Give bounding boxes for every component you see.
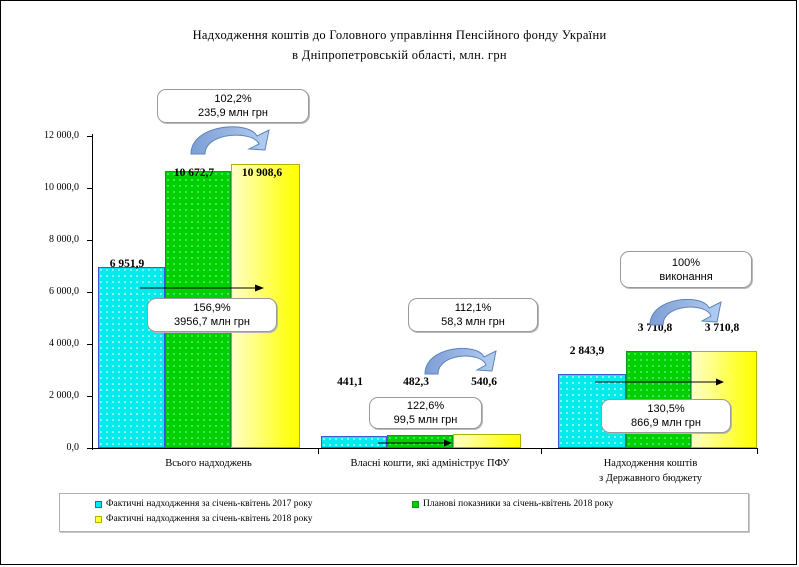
chart-title: Надходження коштів до Головного управлін… xyxy=(1,25,798,65)
straight-arrow-group2 xyxy=(378,438,453,448)
callout-group3-growth-line-1: 130,5% xyxy=(602,402,730,416)
legend-label-2: Планові показники за січень-квітень 2018… xyxy=(423,499,613,509)
callout-group3-growth-line-2: 866,9 млн грн xyxy=(602,416,730,430)
legend-label-3: Фактичні надходження за січень-квітень 2… xyxy=(106,514,313,524)
category-label-1-line-1: Всього надходжень xyxy=(101,456,316,471)
straight-arrow-group3 xyxy=(595,377,725,387)
y-tick-0 xyxy=(87,448,92,449)
bar-group1-series1[interactable] xyxy=(98,267,165,448)
category-label-3-line-2: з Державного бюджету xyxy=(543,471,758,486)
callout-group1-plan-vs-fact-line-1: 102,2% xyxy=(158,92,308,106)
curved-arrow-group2 xyxy=(421,338,511,378)
callout-group2-plan-vs-fact-line-1: 112,1% xyxy=(409,301,537,315)
legend-item-3[interactable]: Фактичні надходження за січень-квітень 2… xyxy=(95,514,313,524)
chart-frame: Надходження коштів до Головного управлін… xyxy=(0,0,797,565)
x-tick-end xyxy=(757,449,758,454)
legend-swatch-cyan-icon xyxy=(95,501,102,508)
y-tick-label-0: 0,0 xyxy=(13,442,79,453)
callout-group1-plan-vs-fact[interactable]: 102,2% 235,9 млн грн xyxy=(157,89,309,123)
callout-group1-growth[interactable]: 156,9% 3956,7 млн грн xyxy=(147,298,277,332)
callout-group2-plan-vs-fact[interactable]: 112,1% 58,3 млн грн xyxy=(408,298,538,332)
legend-swatch-green-icon xyxy=(412,501,419,508)
value-label-group1-series1: 6 951,9 xyxy=(94,258,160,270)
y-tick-label-4000: 4 000,0 xyxy=(13,338,79,349)
chart-legend: Фактичні надходження за січень-квітень 2… xyxy=(59,493,749,532)
callout-group3-plan-vs-fact-line-2: виконання xyxy=(621,270,751,284)
legend-item-2[interactable]: Планові показники за січень-квітень 2018… xyxy=(412,499,613,509)
callout-group2-growth-line-1: 122,6% xyxy=(370,399,481,413)
callout-group3-plan-vs-fact[interactable]: 100% виконання xyxy=(620,251,752,288)
category-label-1: Всього надходжень xyxy=(101,456,316,471)
x-axis-line xyxy=(92,448,758,449)
x-tick-sep-1 xyxy=(318,449,319,454)
legend-label-1: Фактичні надходження за січень-квітень 2… xyxy=(106,499,313,509)
straight-arrow-group1 xyxy=(140,283,265,293)
y-tick-label-8000: 8 000,0 xyxy=(13,234,79,245)
callout-group3-growth[interactable]: 130,5% 866,9 млн грн xyxy=(601,399,731,433)
bar-group2-series3[interactable] xyxy=(453,434,521,448)
y-tick-label-10000: 10 000,0 xyxy=(13,182,79,193)
x-tick-sep-2 xyxy=(541,449,542,454)
category-label-2-line-1: Власні кошти, які адмініструє ПФУ xyxy=(319,456,541,471)
value-label-group2-series1: 441,1 xyxy=(317,376,383,388)
callout-group2-growth-line-2: 99,5 млн грн xyxy=(370,413,481,427)
category-label-2: Власні кошти, які адмініструє ПФУ xyxy=(319,456,541,471)
chart-title-line-2: в Дніпропетровській області, млн. грн xyxy=(1,45,798,65)
callout-group2-growth[interactable]: 122,6% 99,5 млн грн xyxy=(369,397,482,429)
chart-title-line-1: Надходження коштів до Головного управлін… xyxy=(1,25,798,45)
callout-group1-plan-vs-fact-line-2: 235,9 млн грн xyxy=(158,106,308,120)
value-label-group3-series1: 2 843,9 xyxy=(554,345,620,357)
value-label-group1-series3: 10 908,6 xyxy=(229,167,295,179)
callout-group2-plan-vs-fact-line-2: 58,3 млн грн xyxy=(409,315,537,329)
callout-group3-plan-vs-fact-line-1: 100% xyxy=(621,256,751,270)
callout-group1-growth-line-2: 3956,7 млн грн xyxy=(148,315,276,329)
callout-group1-growth-line-1: 156,9% xyxy=(148,301,276,315)
value-label-group1-series2: 10 672,7 xyxy=(161,167,227,179)
legend-swatch-yellow-icon xyxy=(95,516,102,523)
y-tick-label-12000: 12 000,0 xyxy=(13,130,79,141)
category-label-3: Надходження коштів з Державного бюджету xyxy=(543,456,758,486)
legend-item-1[interactable]: Фактичні надходження за січень-квітень 2… xyxy=(95,499,313,509)
y-tick-label-2000: 2 000,0 xyxy=(13,390,79,401)
curved-arrow-group3 xyxy=(646,289,736,329)
category-label-3-line-1: Надходження коштів xyxy=(543,456,758,471)
y-tick-label-6000: 6 000,0 xyxy=(13,286,79,297)
